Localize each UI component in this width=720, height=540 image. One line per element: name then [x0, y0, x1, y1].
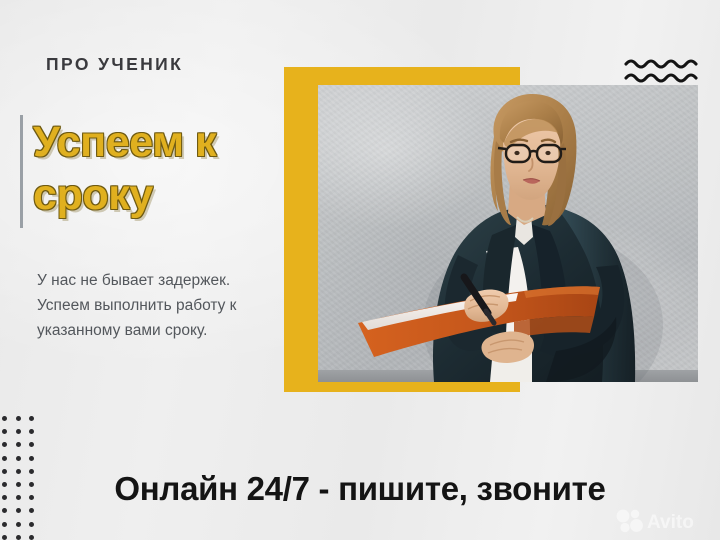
heading-accent-bar: [20, 115, 23, 228]
grid-dot: [16, 508, 21, 513]
grid-dot: [16, 416, 21, 421]
hero-photo: [318, 85, 698, 382]
grid-dot: [29, 522, 34, 527]
grid-dot: [16, 442, 21, 447]
grid-dot: [2, 429, 7, 434]
grid-dot: [2, 508, 7, 513]
grid-dot: [16, 522, 21, 527]
grid-dot: [29, 535, 34, 540]
grid-dot: [29, 456, 34, 461]
eyebrow-label: ПРО УЧЕНИК: [46, 54, 183, 75]
avito-watermark: Avito: [614, 508, 712, 534]
grid-dot: [16, 429, 21, 434]
page-title: Успеем к сроку: [33, 116, 278, 222]
grid-dot: [2, 416, 7, 421]
bottom-headline: Онлайн 24/7 - пишите, звоните: [0, 470, 720, 508]
grid-dot: [2, 442, 7, 447]
svg-text:Avito: Avito: [647, 512, 694, 533]
grid-dot: [29, 429, 34, 434]
grid-dot: [16, 535, 21, 540]
grid-dot: [29, 442, 34, 447]
grid-dot: [2, 456, 7, 461]
grid-dot: [29, 508, 34, 513]
body-paragraph: У нас не бывает задержек. Успеем выполни…: [37, 268, 237, 343]
photo-subject: [318, 85, 698, 382]
grid-dot: [2, 522, 7, 527]
promo-banner: ПРО УЧЕНИК Успеем к сроку У нас не бывае…: [0, 0, 720, 540]
grid-dot: [16, 456, 21, 461]
grid-dot: [29, 416, 34, 421]
grid-dot: [2, 535, 7, 540]
